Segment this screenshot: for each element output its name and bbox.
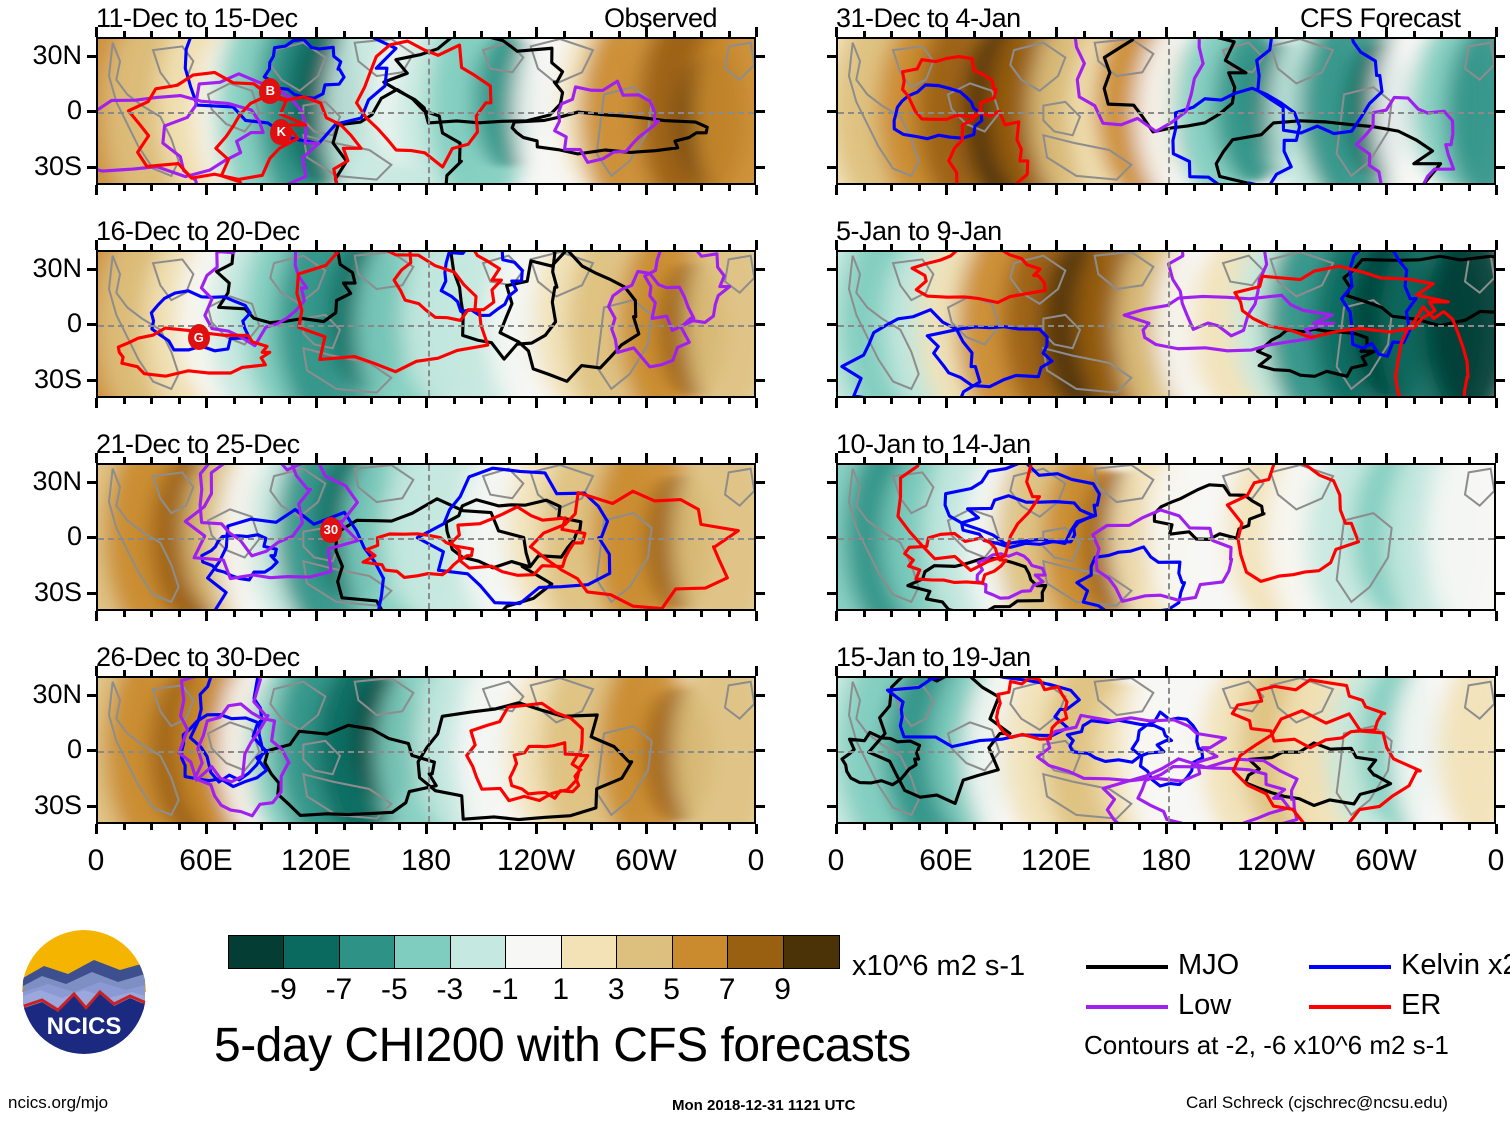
x-tick <box>1110 670 1113 676</box>
x-tick <box>233 31 236 37</box>
x-tick <box>1413 31 1416 37</box>
x-tick <box>343 457 346 463</box>
x-tick <box>835 824 838 834</box>
x-tick <box>1468 31 1471 37</box>
x-tick <box>1110 244 1113 250</box>
x-tick <box>1000 611 1003 617</box>
x-tick <box>1330 244 1333 250</box>
y-tick <box>1496 268 1505 271</box>
x-tick <box>370 398 373 404</box>
x-tick <box>398 244 401 250</box>
y-tick <box>827 592 836 595</box>
equator-line <box>838 751 1494 753</box>
x-tick <box>95 27 98 37</box>
x-tick <box>370 824 373 830</box>
x-tick <box>95 240 98 250</box>
x-tick <box>1055 185 1058 195</box>
x-tick <box>1000 244 1003 250</box>
x-tick <box>205 240 208 250</box>
x-tick <box>1165 666 1168 676</box>
x-tick <box>1495 185 1498 195</box>
colorbar-label-1: -7 <box>309 975 369 1005</box>
author-credit: Carl Schreck (cjschrec@ncsu.edu) <box>1186 1094 1448 1111</box>
x-tick <box>973 670 976 676</box>
x-tick <box>260 31 263 37</box>
y-tick <box>756 592 765 595</box>
map-panel-p7[interactable] <box>836 463 1496 611</box>
x-tick <box>1303 398 1306 404</box>
x-tick <box>1000 824 1003 830</box>
panel-title-p1: 11-Dec to 15-Dec <box>96 5 298 32</box>
legend-line-er <box>1309 1005 1391 1009</box>
x-tick <box>1220 457 1223 463</box>
x-tick <box>150 244 153 250</box>
x-tick <box>1358 31 1361 37</box>
x-tick <box>1000 457 1003 463</box>
x-tick <box>863 824 866 830</box>
equator-line <box>838 538 1494 540</box>
x-tick <box>1468 185 1471 191</box>
y-tick <box>827 110 836 113</box>
y-tick <box>87 268 96 271</box>
x-tick <box>1385 666 1388 676</box>
column-header-forecast: CFS Forecast <box>1300 5 1461 32</box>
x-tick <box>343 611 346 617</box>
x-axis-label-0: 0 <box>36 846 156 876</box>
x-tick <box>890 611 893 617</box>
x-tick <box>343 824 346 830</box>
y-tick <box>87 805 96 808</box>
x-tick <box>343 185 346 191</box>
x-tick <box>835 27 838 37</box>
x-tick <box>260 824 263 830</box>
x-tick <box>1220 611 1223 617</box>
x-tick <box>1028 244 1031 250</box>
dateline-guide <box>1168 678 1170 822</box>
x-tick <box>1468 824 1471 830</box>
x-tick <box>1110 611 1113 617</box>
y-tick <box>87 55 96 58</box>
y-tick <box>87 694 96 697</box>
x-tick <box>1495 611 1498 621</box>
x-tick <box>863 398 866 404</box>
x-tick <box>1385 824 1388 834</box>
x-tick <box>1055 666 1058 676</box>
x-tick <box>755 611 758 621</box>
x-tick <box>1413 611 1416 617</box>
x-tick <box>645 185 648 195</box>
y-tick <box>87 536 96 539</box>
x-tick <box>1275 398 1278 408</box>
x-tick <box>700 244 703 250</box>
x-tick <box>1358 670 1361 676</box>
equator-line <box>838 325 1494 327</box>
x-tick <box>1083 31 1086 37</box>
x-tick <box>315 398 318 408</box>
map-panel-p3[interactable]: 30 <box>96 463 756 611</box>
x-tick <box>453 824 456 830</box>
x-tick <box>1028 185 1031 191</box>
x-tick <box>398 31 401 37</box>
x-tick <box>535 611 538 621</box>
x-tick <box>1193 31 1196 37</box>
x-tick <box>1000 31 1003 37</box>
x-tick <box>645 398 648 408</box>
x-tick <box>178 611 181 617</box>
y-tick <box>87 323 96 326</box>
x-tick <box>835 398 838 408</box>
x-tick <box>1083 398 1086 404</box>
colorbar-label-5: 1 <box>531 975 591 1005</box>
x-tick <box>233 185 236 191</box>
x-tick <box>425 453 428 463</box>
x-tick <box>755 453 758 463</box>
x-tick <box>398 670 401 676</box>
x-tick <box>398 824 401 830</box>
x-tick <box>590 611 593 617</box>
x-tick <box>123 185 126 191</box>
x-tick <box>1440 824 1443 830</box>
x-tick <box>1220 31 1223 37</box>
y-axis-label-30S: 30S <box>0 153 82 180</box>
x-tick <box>1303 244 1306 250</box>
x-tick <box>700 611 703 617</box>
x-tick <box>618 185 621 191</box>
x-tick <box>1165 611 1168 621</box>
x-tick <box>535 666 538 676</box>
x-tick <box>945 240 948 250</box>
x-tick <box>890 457 893 463</box>
x-tick <box>370 244 373 250</box>
y-axis-label-30N: 30N <box>0 681 82 708</box>
x-tick <box>1440 670 1443 676</box>
x-tick <box>453 31 456 37</box>
column-header-observed: Observed <box>604 5 717 32</box>
map-panel-p6[interactable] <box>836 250 1496 398</box>
x-tick <box>535 453 538 463</box>
x-tick <box>178 398 181 404</box>
dateline-guide <box>1168 465 1170 609</box>
x-tick <box>1138 398 1141 404</box>
x-tick <box>370 31 373 37</box>
x-tick <box>563 457 566 463</box>
x-tick <box>205 185 208 195</box>
x-tick <box>288 244 291 250</box>
x-tick <box>1495 666 1498 676</box>
colorbar-label-8: 7 <box>697 975 757 1005</box>
x-tick <box>1248 244 1251 250</box>
x-tick <box>673 244 676 250</box>
x-tick <box>1275 240 1278 250</box>
x-tick <box>260 185 263 191</box>
x-tick <box>863 457 866 463</box>
x-tick <box>890 244 893 250</box>
x-tick <box>95 398 98 408</box>
svg-text:NCICS: NCICS <box>47 1013 122 1040</box>
x-tick <box>728 670 731 676</box>
x-tick <box>918 398 921 404</box>
panel-title-p3: 21-Dec to 25-Dec <box>96 431 300 458</box>
dateline-guide <box>1168 39 1170 183</box>
x-tick <box>178 670 181 676</box>
y-tick <box>87 379 96 382</box>
x-tick <box>178 185 181 191</box>
x-tick <box>755 240 758 250</box>
x-tick <box>1028 824 1031 830</box>
x-tick <box>945 611 948 621</box>
dateline-guide <box>428 39 430 183</box>
x-tick <box>645 824 648 834</box>
x-tick <box>1440 244 1443 250</box>
x-tick <box>1495 453 1498 463</box>
x-tick <box>618 398 621 404</box>
colorbar <box>228 935 840 969</box>
map-panel-p4[interactable] <box>96 676 756 824</box>
x-tick <box>535 824 538 834</box>
y-tick <box>827 268 836 271</box>
x-tick <box>260 457 263 463</box>
x-tick <box>755 398 758 408</box>
x-tick <box>95 666 98 676</box>
x-tick <box>178 824 181 830</box>
x-tick <box>563 824 566 830</box>
x-tick <box>1440 31 1443 37</box>
x-tick <box>150 457 153 463</box>
x-tick <box>178 457 181 463</box>
x-tick <box>288 398 291 404</box>
x-axis-label-3: 180 <box>1106 846 1226 876</box>
x-tick <box>1028 398 1031 404</box>
x-tick <box>1165 27 1168 37</box>
y-tick <box>1496 55 1505 58</box>
x-tick <box>508 670 511 676</box>
x-axis-label-1: 60E <box>886 846 1006 876</box>
x-tick <box>1468 457 1471 463</box>
x-tick <box>233 611 236 617</box>
map-panel-p5[interactable] <box>836 37 1496 185</box>
page-title: 5-day CHI200 with CFS forecasts <box>214 1022 911 1070</box>
x-tick <box>563 611 566 617</box>
x-tick <box>1468 244 1471 250</box>
x-tick <box>1110 31 1113 37</box>
x-tick <box>1330 31 1333 37</box>
x-tick <box>1248 31 1251 37</box>
ncics-logo: NCICS <box>22 930 146 1054</box>
x-tick <box>480 185 483 191</box>
x-tick <box>288 457 291 463</box>
y-axis-label-30S: 30S <box>0 366 82 393</box>
x-tick <box>95 185 98 195</box>
storm-marker-30[interactable]: 30 <box>320 517 342 543</box>
x-tick <box>1358 611 1361 617</box>
colorbar-swatch-4 <box>451 936 506 968</box>
equator-line <box>98 538 754 540</box>
x-tick <box>260 398 263 404</box>
x-tick <box>343 244 346 250</box>
x-tick <box>1193 611 1196 617</box>
x-tick <box>700 670 703 676</box>
y-axis-label-30S: 30S <box>0 792 82 819</box>
x-tick <box>563 185 566 191</box>
x-tick <box>453 457 456 463</box>
y-tick <box>1496 481 1505 484</box>
x-tick <box>480 670 483 676</box>
equator-line <box>838 112 1494 114</box>
legend-label-low: Low <box>1178 991 1231 1020</box>
x-tick <box>645 240 648 250</box>
x-tick <box>1413 457 1416 463</box>
x-tick <box>260 670 263 676</box>
x-tick <box>890 185 893 191</box>
x-tick <box>95 453 98 463</box>
x-tick <box>398 457 401 463</box>
x-tick <box>205 398 208 408</box>
x-tick <box>1220 244 1223 250</box>
x-tick <box>535 27 538 37</box>
x-tick <box>590 31 593 37</box>
y-axis-label-30S: 30S <box>0 579 82 606</box>
dateline-guide <box>1168 252 1170 396</box>
y-tick <box>756 481 765 484</box>
x-tick <box>508 824 511 830</box>
x-tick <box>508 244 511 250</box>
contour-note: Contours at -2, -6 x10^6 m2 s-1 <box>1084 1032 1449 1058</box>
storm-marker-b[interactable]: B <box>259 78 281 104</box>
x-tick <box>480 31 483 37</box>
x-tick <box>1440 457 1443 463</box>
y-tick <box>1496 592 1505 595</box>
x-tick <box>973 824 976 830</box>
y-tick <box>756 805 765 808</box>
x-tick <box>508 611 511 617</box>
x-tick <box>1000 398 1003 404</box>
x-tick <box>480 611 483 617</box>
x-tick <box>1495 240 1498 250</box>
x-tick <box>1303 824 1306 830</box>
y-tick <box>1496 110 1505 113</box>
x-tick <box>1330 670 1333 676</box>
x-tick <box>945 185 948 195</box>
x-tick <box>233 824 236 830</box>
x-tick <box>1165 398 1168 408</box>
y-tick <box>756 55 765 58</box>
x-tick <box>1275 453 1278 463</box>
x-tick <box>1028 670 1031 676</box>
x-tick <box>645 453 648 463</box>
x-tick <box>1000 670 1003 676</box>
x-tick <box>618 824 621 830</box>
x-tick <box>1385 398 1388 408</box>
map-panel-p8[interactable] <box>836 676 1496 824</box>
x-axis-label-4: 120W <box>476 846 596 876</box>
x-tick <box>890 670 893 676</box>
x-tick <box>1248 457 1251 463</box>
y-tick <box>1496 379 1505 382</box>
y-axis-label-30N: 30N <box>0 468 82 495</box>
x-tick <box>973 31 976 37</box>
x-tick <box>260 244 263 250</box>
x-tick <box>1303 185 1306 191</box>
x-tick <box>370 457 373 463</box>
x-tick <box>1055 398 1058 408</box>
x-tick <box>343 670 346 676</box>
legend-label-kelvin: Kelvin x2 <box>1401 951 1510 980</box>
map-panel-p1[interactable]: BK <box>96 37 756 185</box>
colorbar-swatch-2 <box>340 936 395 968</box>
x-tick <box>343 398 346 404</box>
x-tick <box>1165 240 1168 250</box>
site-url[interactable]: ncics.org/mjo <box>8 1094 108 1111</box>
x-tick <box>945 824 948 834</box>
x-tick <box>1055 611 1058 621</box>
x-tick <box>918 611 921 617</box>
y-tick <box>1496 536 1505 539</box>
colorbar-unit-label: x10^6 m2 s-1 <box>852 952 1025 981</box>
x-tick <box>835 185 838 195</box>
x-tick <box>673 670 676 676</box>
x-tick <box>1248 611 1251 617</box>
legend-line-kelvin <box>1309 965 1391 969</box>
x-tick <box>1468 398 1471 404</box>
panel-title-p5: 31-Dec to 4-Jan <box>836 5 1021 32</box>
x-tick <box>1083 824 1086 830</box>
y-tick <box>827 694 836 697</box>
y-tick <box>1496 749 1505 752</box>
x-tick <box>863 611 866 617</box>
equator-line <box>98 751 754 753</box>
x-tick <box>425 240 428 250</box>
x-tick <box>260 611 263 617</box>
x-tick <box>233 457 236 463</box>
dateline-guide <box>428 465 430 609</box>
x-tick <box>590 398 593 404</box>
x-tick <box>315 453 318 463</box>
x-tick <box>1358 398 1361 404</box>
y-tick <box>87 592 96 595</box>
x-tick <box>618 670 621 676</box>
x-tick <box>1303 31 1306 37</box>
x-tick <box>1413 398 1416 404</box>
x-tick <box>1138 611 1141 617</box>
storm-marker-g[interactable]: G <box>188 324 210 350</box>
x-tick <box>1413 185 1416 191</box>
x-tick <box>1248 398 1251 404</box>
x-tick <box>918 31 921 37</box>
x-tick <box>233 670 236 676</box>
x-tick <box>673 824 676 830</box>
y-tick <box>827 166 836 169</box>
y-tick <box>1496 805 1505 808</box>
x-tick <box>1193 398 1196 404</box>
x-tick <box>315 185 318 195</box>
dateline-guide <box>428 252 430 396</box>
x-tick <box>945 398 948 408</box>
y-axis-label-0: 0 <box>0 736 82 763</box>
y-tick <box>87 166 96 169</box>
x-tick <box>835 666 838 676</box>
x-tick <box>288 611 291 617</box>
x-tick <box>1413 244 1416 250</box>
y-tick <box>756 379 765 382</box>
x-tick <box>728 611 731 617</box>
x-tick <box>343 31 346 37</box>
x-tick <box>288 185 291 191</box>
x-tick <box>453 185 456 191</box>
x-tick <box>863 31 866 37</box>
x-tick <box>1330 457 1333 463</box>
x-tick <box>863 244 866 250</box>
map-panel-p2[interactable]: G <box>96 250 756 398</box>
